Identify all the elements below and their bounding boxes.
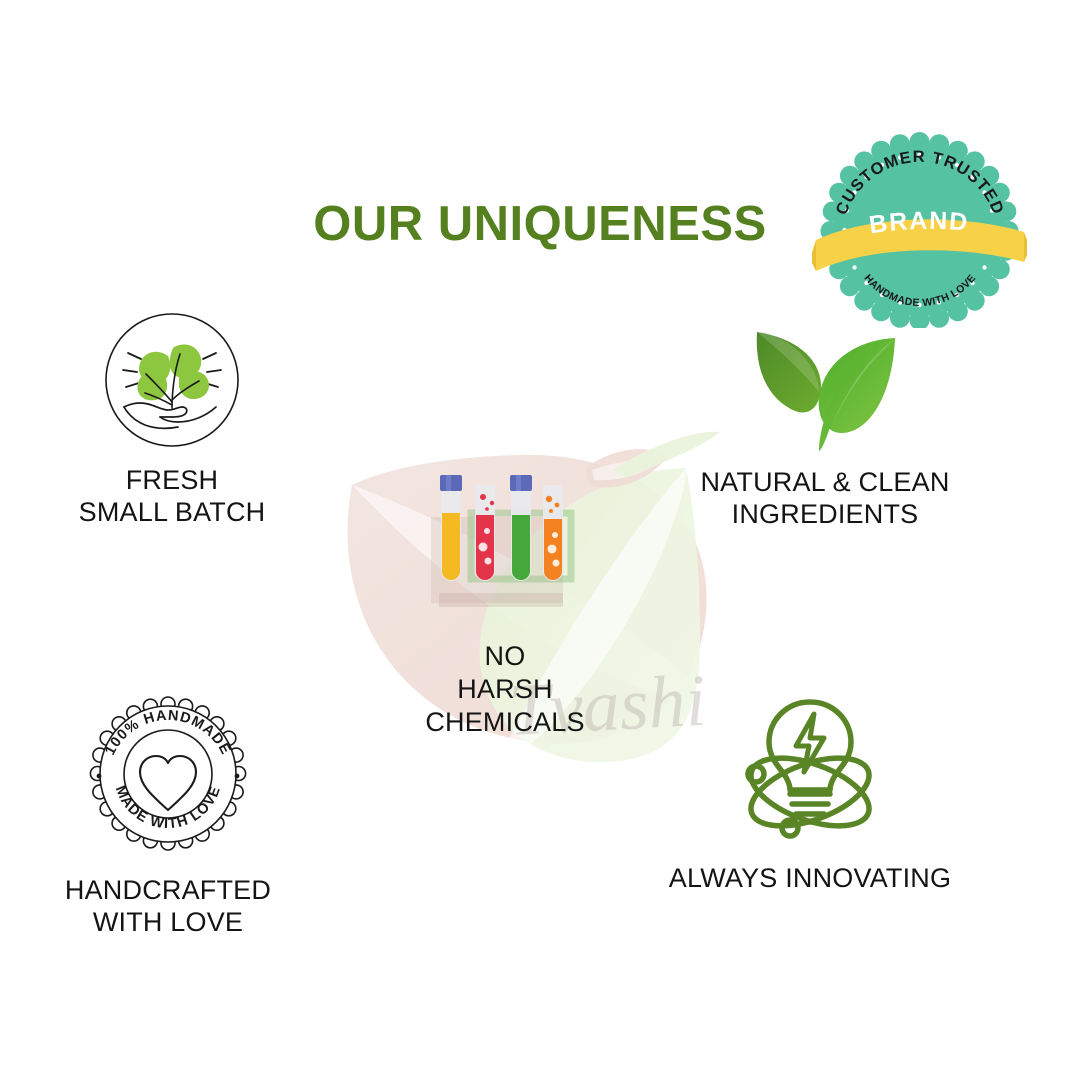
two-leaves-icon [745, 320, 905, 457]
test-tubes-rack-icon [415, 455, 595, 630]
feature-natural-clean-ingredients: NATURAL & CLEAN INGREDIENTS [660, 320, 990, 531]
handmade-heart-stamp-icon: 100% HANDMADE MADE WITH LOVE [82, 688, 254, 865]
poster-canvas: Tvashi OUR UNIQUENESS [0, 0, 1080, 1080]
customer-trusted-brand-badge: CUSTOMER TRUSTED HANDMADE WITH LOVE BRAN… [812, 128, 1027, 328]
feature-fresh-small-batch: FRESH SMALL BATCH [22, 310, 322, 529]
feature-label: ALWAYS INNOVATING [669, 863, 951, 895]
test-tube-green [510, 475, 532, 581]
test-tube-yellow [440, 475, 462, 581]
test-tube-red [475, 485, 495, 581]
feature-handcrafted-with-love: 100% HANDMADE MADE WITH LOVE HANDCRAFTED… [18, 688, 318, 939]
test-tube-orange [543, 485, 563, 581]
feature-always-innovating: ALWAYS INNOVATING [650, 688, 970, 895]
hand-holding-plant-icon [102, 310, 242, 455]
feature-no-harsh-chemicals: NO HARSH CHEMICALS [345, 455, 665, 739]
feature-label: FRESH SMALL BATCH [79, 465, 266, 529]
lightbulb-atom-icon [730, 688, 890, 853]
badge-ribbon-text: BRAND [867, 207, 970, 240]
feature-label: NATURAL & CLEAN INGREDIENTS [700, 467, 949, 531]
feature-label: HANDCRAFTED WITH LOVE [65, 875, 271, 939]
feature-label: NO HARSH CHEMICALS [425, 640, 584, 739]
